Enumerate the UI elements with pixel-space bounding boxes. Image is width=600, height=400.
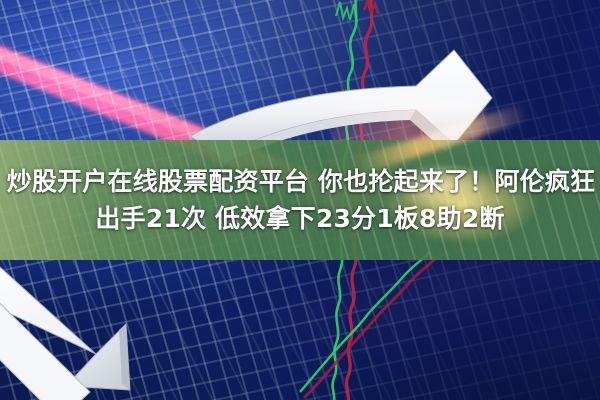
arrow-tail-lower-left [0, 300, 140, 400]
screenshot-root: 炒股开户在线股票配资平台 你也抡起来了！阿伦疯狂 出手21次 低效拿下23分1板… [0, 0, 600, 400]
caption-line-1: 炒股开户在线股票配资平台 你也抡起来了！阿伦疯狂 [0, 165, 600, 198]
caption-text-block: 炒股开户在线股票配资平台 你也抡起来了！阿伦疯狂 出手21次 低效拿下23分1板… [0, 140, 600, 260]
caption-line-2: 出手21次 低效拿下23分1板8助2断 [95, 202, 504, 235]
